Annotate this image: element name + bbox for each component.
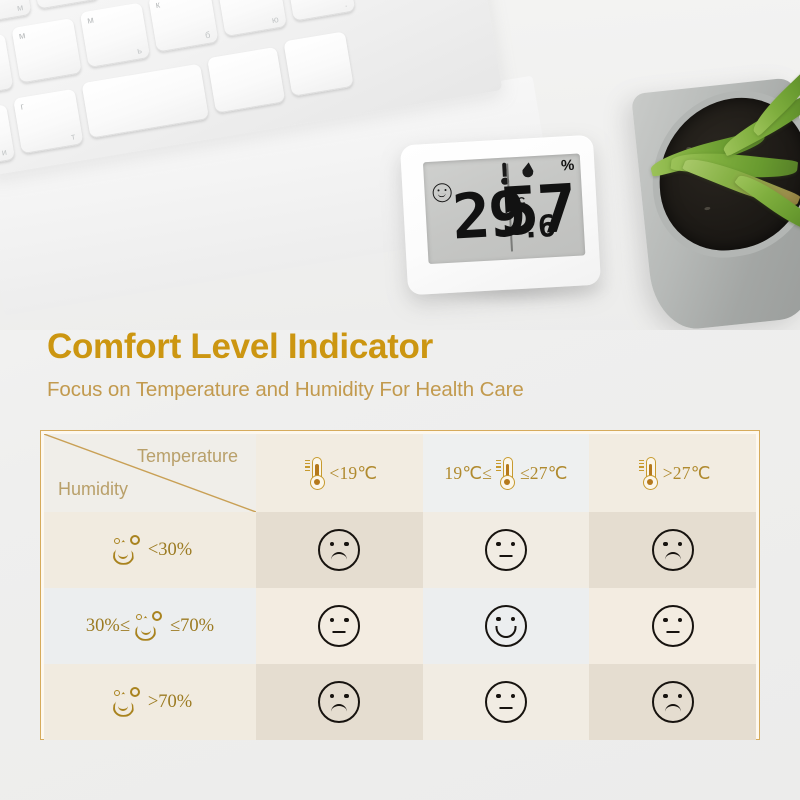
table-row: <30% xyxy=(44,512,756,588)
comfort-cell xyxy=(256,664,423,740)
corner-header-cell: Temperature Humidity xyxy=(44,434,256,512)
sad-face-icon xyxy=(652,681,694,723)
happy-face-icon xyxy=(485,605,527,647)
temperature-axis-label: Temperature xyxy=(137,446,238,467)
page-title: Comfort Level Indicator xyxy=(47,327,433,367)
neutral-face-icon xyxy=(485,529,527,571)
water-droplet-icon xyxy=(112,535,144,565)
comfort-level-table: Temperature Humidity <19℃ xyxy=(40,430,760,740)
lcd-screen: 29 .6 C 57 % xyxy=(423,153,585,264)
temperature-column-header-2: 19℃≤ ≤27℃ xyxy=(423,434,590,512)
keyboard-key: м xyxy=(11,18,81,83)
keyboard-key: гт xyxy=(13,89,83,154)
smiley-face-icon xyxy=(432,183,452,203)
humidity-row-header-1: <30% xyxy=(44,512,256,588)
keyboard-key xyxy=(207,47,285,114)
humidity-row-header-2: 30%≤ ≤70% xyxy=(44,588,256,664)
keyboard-key: нм xyxy=(0,0,31,25)
table-row: 30%≤ ≤70% xyxy=(44,588,756,664)
potted-plant xyxy=(625,55,800,330)
keyboard-key: мь xyxy=(80,3,150,68)
comfort-cell xyxy=(256,512,423,588)
humidity-range-suffix: >70% xyxy=(148,692,192,713)
sad-face-icon xyxy=(318,529,360,571)
neutral-face-icon xyxy=(652,605,694,647)
product-infographic: нм уо кл д ? м мь кб ю . ви гт xyxy=(0,0,800,800)
humidity-axis-label: Humidity xyxy=(58,479,128,500)
comfort-cell xyxy=(423,664,590,740)
page-subtitle: Focus on Temperature and Humidity For He… xyxy=(47,378,524,402)
neutral-face-icon xyxy=(318,605,360,647)
thermometer-icon xyxy=(305,456,325,490)
keyboard-key: ви xyxy=(0,104,15,169)
thermometer-hygrometer-device: 29 .6 C 57 % xyxy=(400,135,601,296)
comfort-cell xyxy=(589,588,756,664)
temp-range-suffix: <19℃ xyxy=(329,463,377,484)
humidity-value: 57 xyxy=(498,176,577,246)
sad-face-icon xyxy=(652,529,694,571)
keyboard-key: . xyxy=(285,0,355,21)
keyboard-key: уо xyxy=(29,0,99,9)
temperature-column-header-1: <19℃ xyxy=(256,434,423,512)
temp-range-suffix: ≤27℃ xyxy=(520,463,568,484)
sad-face-icon xyxy=(318,681,360,723)
humidity-range-prefix: 30%≤ xyxy=(86,616,130,637)
comfort-cell xyxy=(589,512,756,588)
thermometer-icon xyxy=(496,456,516,490)
neutral-face-icon xyxy=(485,681,527,723)
table-header-row: Temperature Humidity <19℃ xyxy=(44,434,756,512)
comfort-cell xyxy=(256,588,423,664)
comfort-cell xyxy=(423,588,590,664)
comfort-cell xyxy=(589,664,756,740)
keyboard-key xyxy=(0,34,13,99)
comfort-cell xyxy=(423,512,590,588)
humidity-range-suffix: <30% xyxy=(148,540,192,561)
thermometer-icon xyxy=(639,456,659,490)
water-droplet-icon xyxy=(112,687,144,717)
water-droplet-icon xyxy=(134,611,166,641)
temperature-column-header-3: >27℃ xyxy=(589,434,756,512)
keyboard-key xyxy=(82,64,210,139)
humidity-row-header-3: >70% xyxy=(44,664,256,740)
keyboard-key: кб xyxy=(148,0,218,52)
table-row: >70% xyxy=(44,664,756,740)
temp-range-prefix: 19℃≤ xyxy=(444,463,492,484)
keyboard-key: ю xyxy=(217,0,287,37)
product-photo: нм уо кл д ? м мь кб ю . ви гт xyxy=(0,0,800,330)
humidity-unit: % xyxy=(561,158,575,174)
humidity-range-suffix: ≤70% xyxy=(170,616,214,637)
temp-range-suffix: >27℃ xyxy=(663,463,711,484)
keyboard-key xyxy=(283,31,353,96)
